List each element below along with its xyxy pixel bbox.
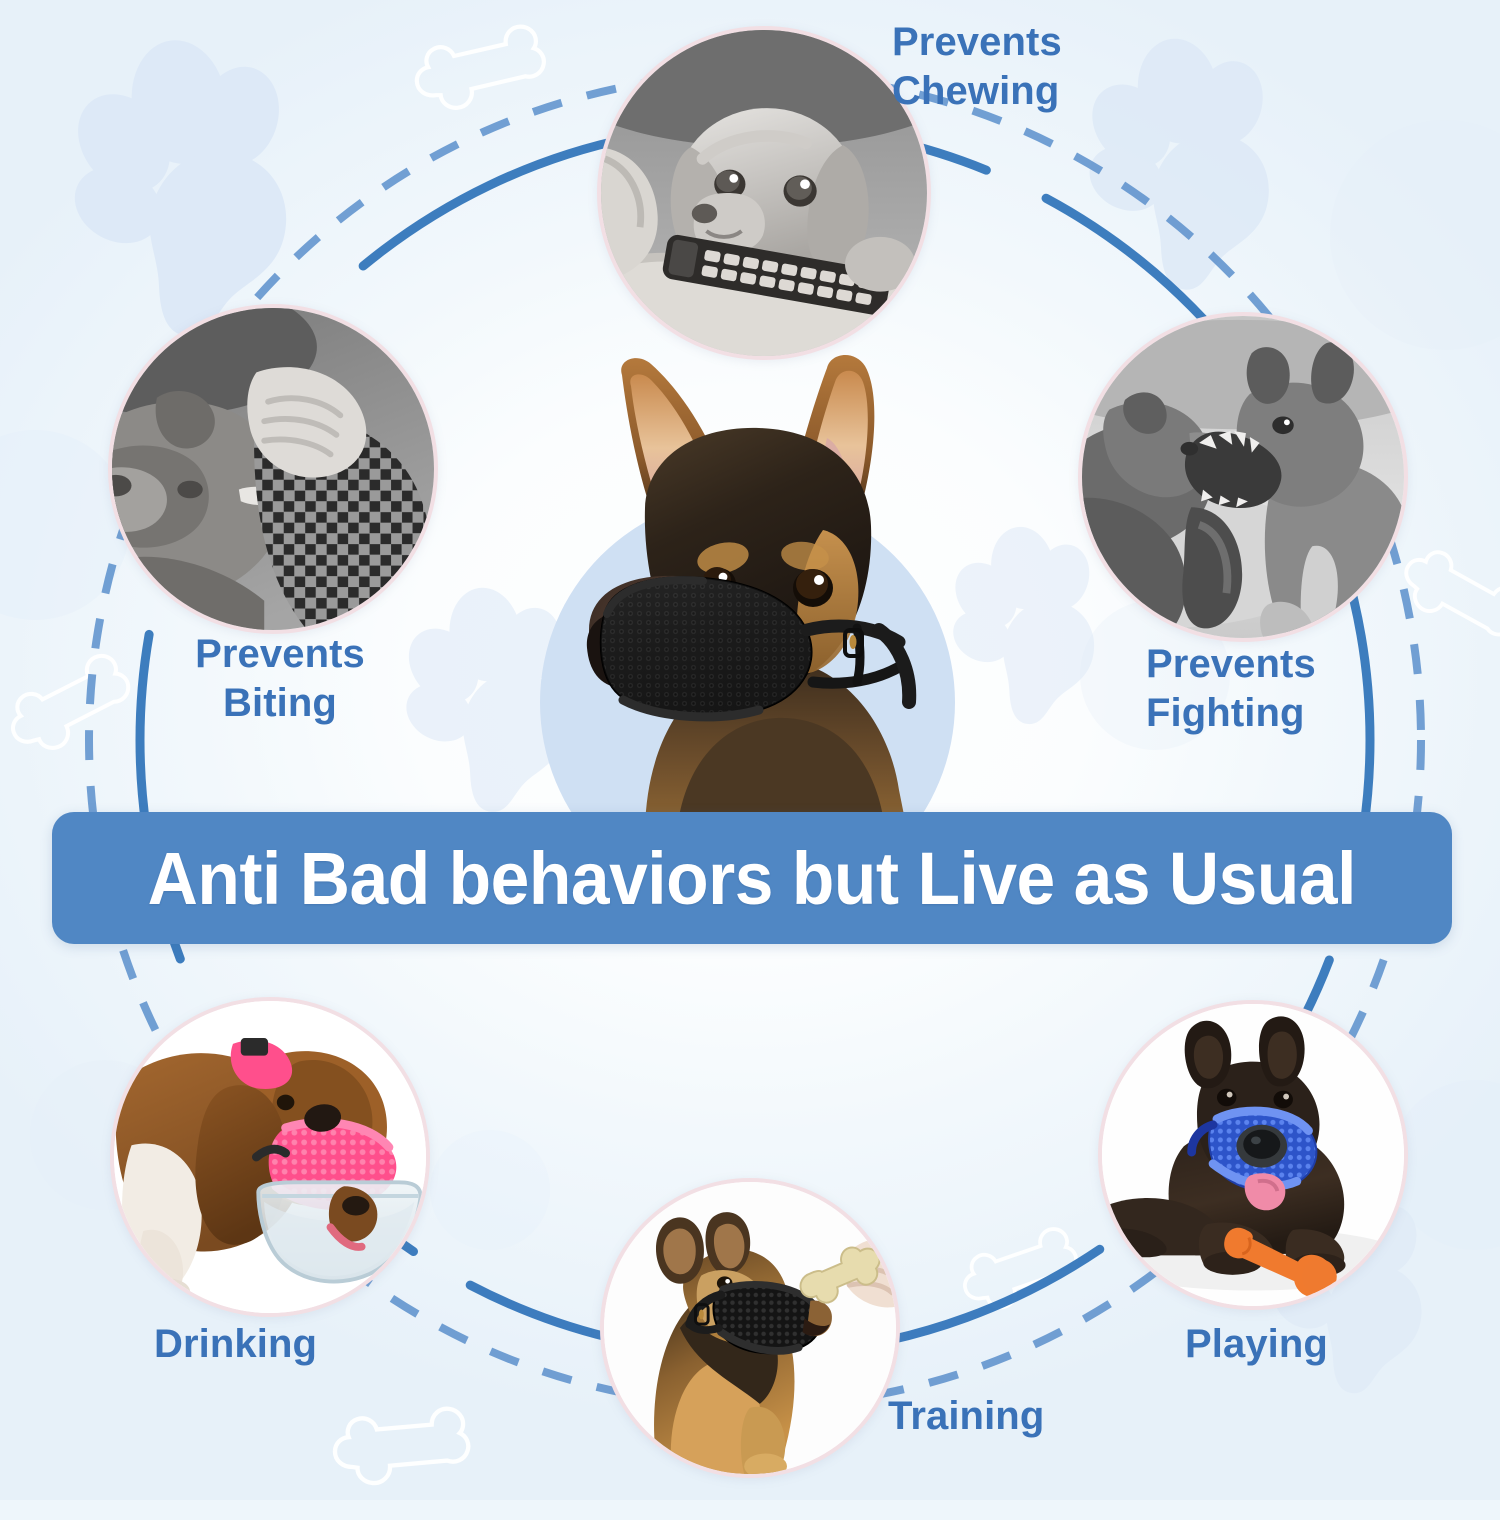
headline-banner: Anti Bad behaviors but Live as Usual	[52, 812, 1452, 944]
feature-photo-chewing[interactable]	[597, 26, 931, 360]
feature-photo-drinking[interactable]	[110, 997, 430, 1317]
label-prevents-fighting: Prevents Fighting	[1146, 640, 1446, 738]
feature-photo-biting[interactable]	[108, 304, 438, 634]
feature-photo-playing[interactable]	[1098, 1000, 1408, 1310]
label-prevents-chewing: Prevents Chewing	[892, 18, 1222, 116]
label-playing: Playing	[1185, 1320, 1485, 1369]
feature-photo-training[interactable]	[600, 1178, 900, 1478]
center-german-shepherd-with-muzzle	[527, 330, 967, 830]
label-drinking: Drinking	[154, 1320, 454, 1369]
headline-text: Anti Bad behaviors but Live as Usual	[148, 836, 1356, 921]
feature-photo-fighting[interactable]	[1078, 312, 1408, 642]
label-prevents-biting: Prevents Biting	[150, 630, 410, 728]
label-training: Training	[888, 1392, 1188, 1441]
